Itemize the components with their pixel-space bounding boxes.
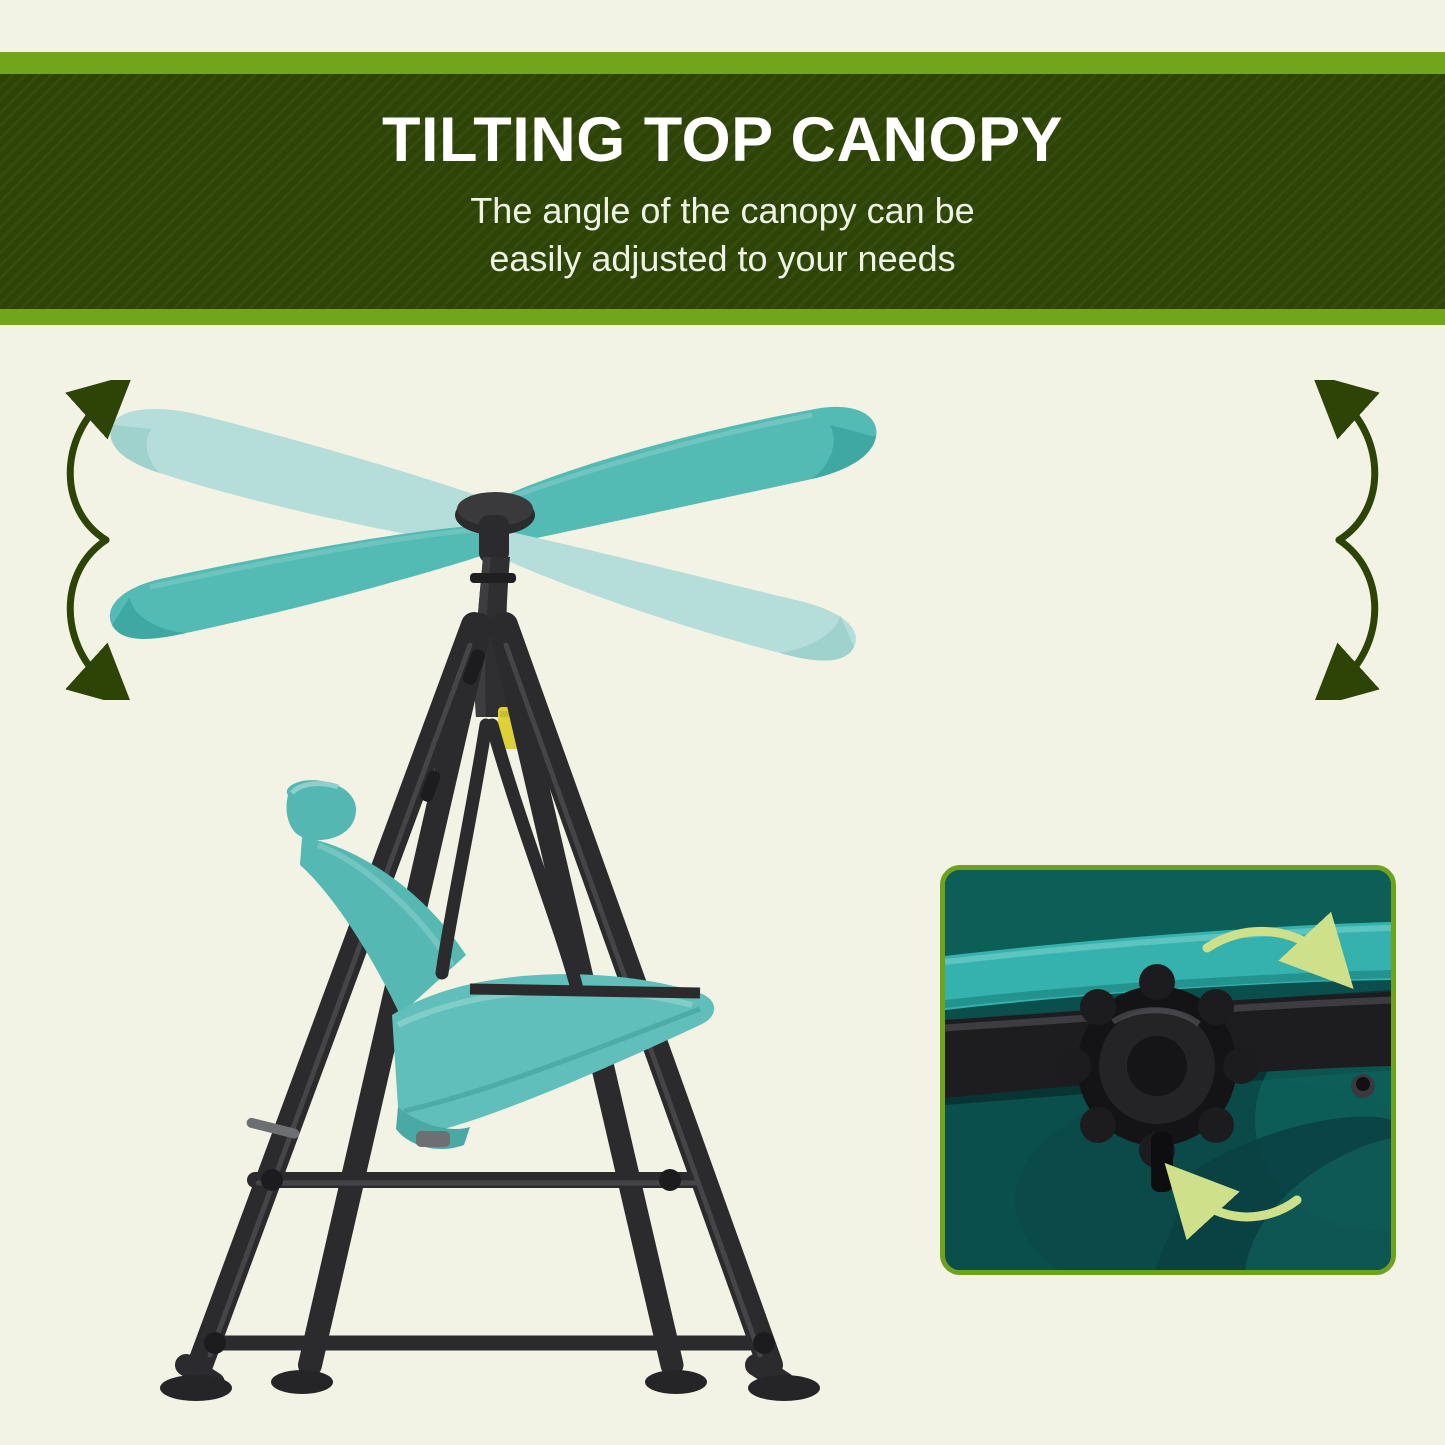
canopy-panel-right-light <box>500 531 856 661</box>
banner-subtitle-line-2: easily adjusted to your needs <box>0 235 1445 283</box>
knob-detail-illustration <box>945 870 1391 1270</box>
swing-feet <box>160 1370 820 1401</box>
tilt-direction-arrow-right <box>1295 380 1405 700</box>
tilt-direction-arrow-left <box>40 380 150 700</box>
swing-scene <box>0 325 1445 1445</box>
banner-bottom-accent-line <box>0 309 1445 325</box>
banner-title: TILTING TOP CANOPY <box>0 107 1445 173</box>
banner-top-accent-line <box>0 52 1445 74</box>
canopy-panel-right-dark <box>495 407 876 547</box>
canopy-tilt-knob-detail <box>940 865 1396 1275</box>
product-photo-area <box>0 325 1445 1445</box>
canopy-panel-left-light <box>110 409 490 547</box>
canopy-panel-left-dark <box>110 525 490 639</box>
header-banner: TILTING TOP CANOPY The angle of the cano… <box>0 52 1445 325</box>
banner-subtitle-line-1: The angle of the canopy can be <box>0 187 1445 235</box>
